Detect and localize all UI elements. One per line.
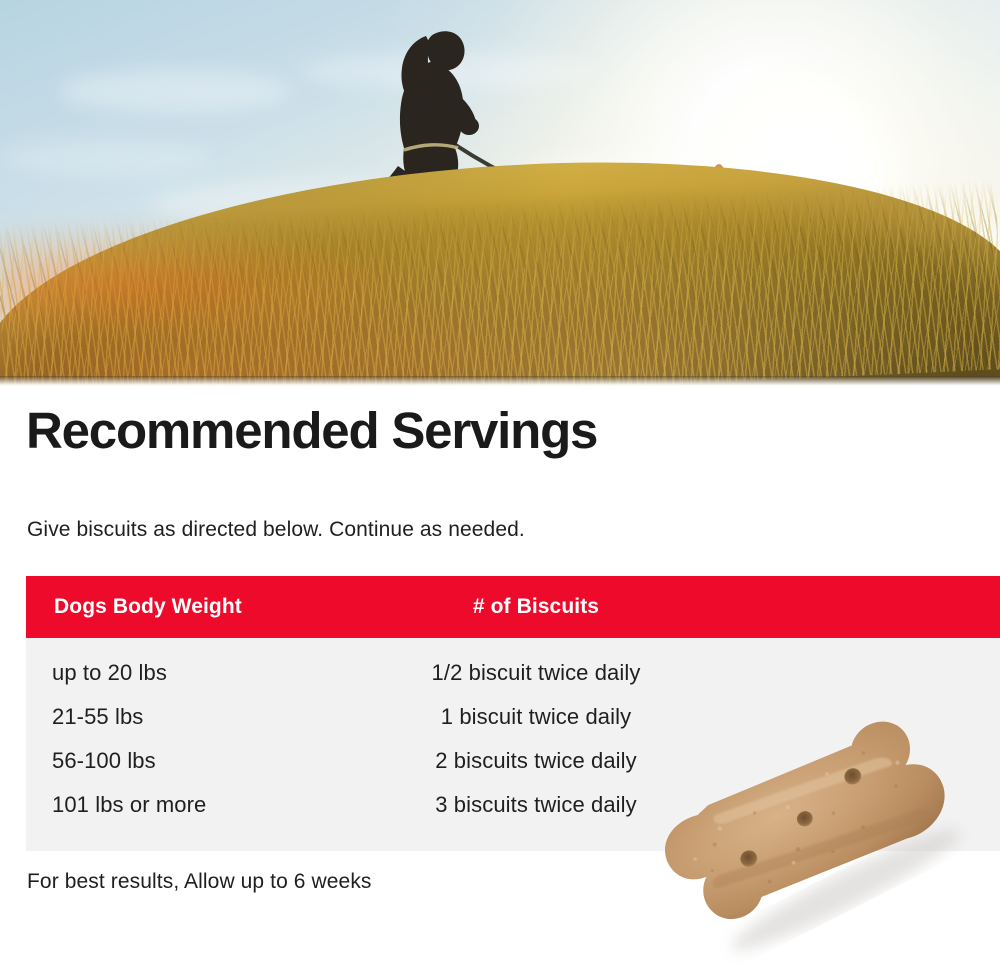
cell-weight: 101 lbs or more	[26, 792, 386, 818]
serving-table: Dogs Body Weight # of Biscuits up to 20 …	[26, 576, 1000, 851]
cell-biscuits: 3 biscuits twice daily	[386, 792, 686, 818]
cloud	[60, 70, 290, 112]
hero-photo	[0, 0, 1000, 386]
table-row: 21-55 lbs 1 biscuit twice daily	[26, 695, 1000, 739]
table-row: 101 lbs or more 3 biscuits twice daily	[26, 783, 1000, 827]
cell-weight: 21-55 lbs	[26, 704, 386, 730]
intro-text: Give biscuits as directed below. Continu…	[27, 518, 525, 542]
recommended-servings-page: Recommended Servings Give biscuits as di…	[0, 0, 1000, 973]
table-row: up to 20 lbs 1/2 biscuit twice daily	[26, 651, 1000, 695]
table-header-row: Dogs Body Weight # of Biscuits	[26, 576, 1000, 638]
content-area: Recommended Servings Give biscuits as di…	[0, 386, 1000, 973]
page-title: Recommended Servings	[26, 403, 597, 458]
footer-note: For best results, Allow up to 6 weeks	[27, 870, 372, 894]
table-body: up to 20 lbs 1/2 biscuit twice daily 21-…	[26, 638, 1000, 851]
cell-weight: up to 20 lbs	[26, 660, 386, 686]
column-header-biscuits: # of Biscuits	[386, 595, 686, 619]
cell-weight: 56-100 lbs	[26, 748, 386, 774]
hero-bottom-edge	[0, 376, 1000, 386]
column-header-weight: Dogs Body Weight	[26, 595, 386, 619]
cell-biscuits: 1/2 biscuit twice daily	[386, 660, 686, 686]
table-row: 56-100 lbs 2 biscuits twice daily	[26, 739, 1000, 783]
cloud	[0, 140, 210, 176]
cell-biscuits: 2 biscuits twice daily	[386, 748, 686, 774]
cell-biscuits: 1 biscuit twice daily	[386, 704, 686, 730]
